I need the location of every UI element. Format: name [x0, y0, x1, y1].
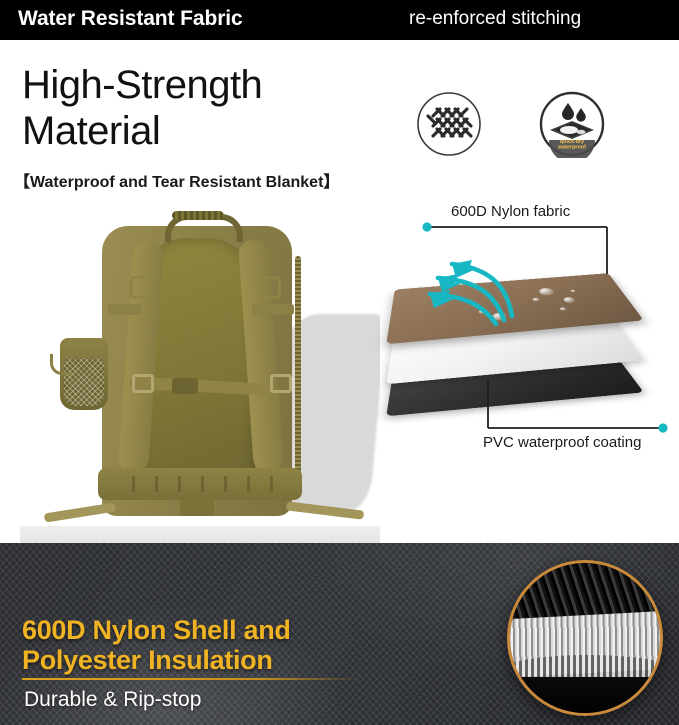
- fabric-layer-diagram: 600D Nylon fabric: [378, 200, 679, 465]
- diagram-label-pvc-coating: PVC waterproof coating: [483, 434, 641, 451]
- top-banner: Water Resistant Fabric re-enforced stitc…: [0, 0, 679, 40]
- d-ring-left: [130, 276, 153, 299]
- svg-text:waterproof: waterproof: [557, 145, 586, 151]
- side-pouch-drawcord: [50, 354, 71, 375]
- top-banner-title: Water Resistant Fabric: [18, 7, 243, 31]
- weave-icon: [415, 90, 483, 158]
- diagram-leader-lines: [378, 200, 679, 465]
- water-droplet-icon: quick-dry waterproof: [538, 90, 606, 158]
- leader-dot-bottom: [658, 423, 667, 432]
- bottom-banner-divider: [22, 678, 360, 680]
- photo-floor: [20, 526, 380, 544]
- compression-strap-right: [252, 304, 294, 315]
- fiber-base-shadow: [507, 677, 663, 716]
- water-repellent-badge: quick-dry waterproof: [538, 90, 606, 158]
- page-subtitle: 【Waterproof and Tear Resistant Blanket】: [14, 168, 339, 192]
- backpack-zipper: [295, 256, 301, 478]
- top-banner-subtitle: re-enforced stitching: [409, 8, 581, 30]
- woven-fabric-badge: [415, 90, 483, 158]
- page-title: High-Strength Material: [22, 62, 402, 154]
- tactical-backpack-photo: [20, 196, 380, 544]
- product-infographic: Water Resistant Fabric re-enforced stitc…: [0, 0, 679, 725]
- compression-strap-left: [108, 304, 142, 315]
- waist-belt-webbing: [112, 476, 288, 492]
- bottom-banner-subtitle: Durable & Rip-stop: [24, 688, 201, 712]
- leader-dot-top: [422, 222, 431, 231]
- bottom-banner-title: 600D Nylon Shell and Polyester Insulatio…: [22, 615, 442, 675]
- fiber-macro-inset: [507, 560, 663, 716]
- bottom-banner-title-line-2: Polyester Insulation: [22, 645, 442, 675]
- d-ring-right: [258, 276, 281, 299]
- page-title-line-2: Material: [22, 108, 402, 154]
- sternum-buckle: [172, 378, 198, 394]
- strap-adjuster-right: [270, 374, 292, 393]
- bottom-banner-title-line-1: 600D Nylon Shell and: [22, 615, 442, 645]
- carry-handle-grip: [172, 211, 224, 220]
- strap-adjuster-left: [132, 374, 154, 393]
- strap-tail-left: [44, 502, 117, 522]
- waist-belt-buckle: [180, 496, 214, 516]
- page-title-line-1: High-Strength: [22, 62, 402, 108]
